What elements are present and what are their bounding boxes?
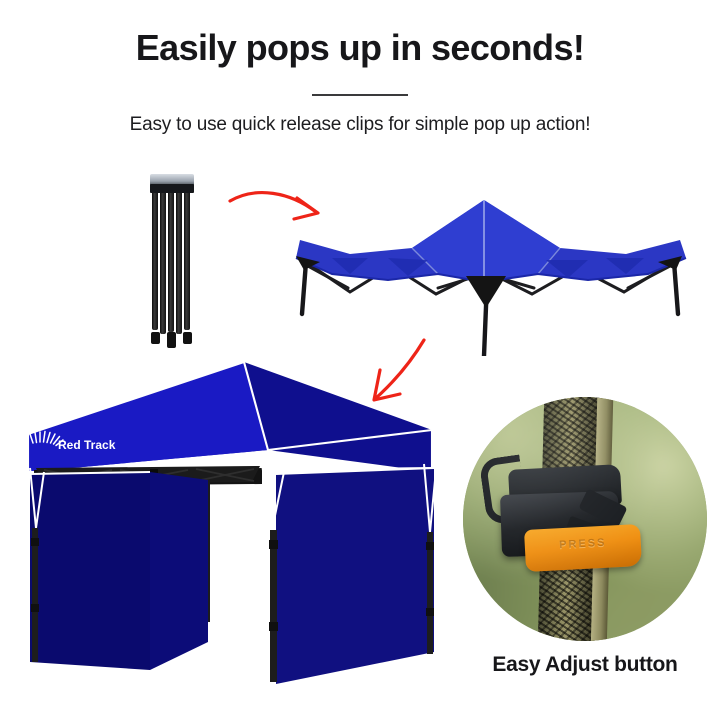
frame-foot [183,332,192,344]
open-canopy-frame [288,196,690,356]
canopy-roof-right [244,362,432,472]
easy-adjust-button-photo: PRESS [463,397,707,641]
folded-gazebo-frame [150,172,196,338]
frame-tube [168,178,174,332]
frame-tube [184,182,190,330]
inset-caption: Easy Adjust button [440,653,720,677]
side-wall-right [276,468,434,684]
frame-tube [152,182,158,330]
frame-tube [176,182,182,334]
frame-top-collar [150,184,194,193]
press-lever-label: PRESS [525,535,641,553]
assembled-gazebo-with-walls: Red Track [0,352,470,692]
header-divider [312,94,408,96]
page-subtitle: Easy to use quick release clips for simp… [0,114,720,136]
frame-foot [167,332,176,348]
brand-name: Red Track [58,438,116,452]
frame-foot [151,332,160,344]
frame-tube [160,182,166,334]
page-headline: Easily pops up in seconds! [0,27,720,68]
press-lever[interactable]: PRESS [524,524,642,572]
infographic-page: Easily pops up in seconds! Easy to use q… [0,0,720,720]
side-wall-left [30,472,150,670]
side-wall-front [150,472,208,670]
